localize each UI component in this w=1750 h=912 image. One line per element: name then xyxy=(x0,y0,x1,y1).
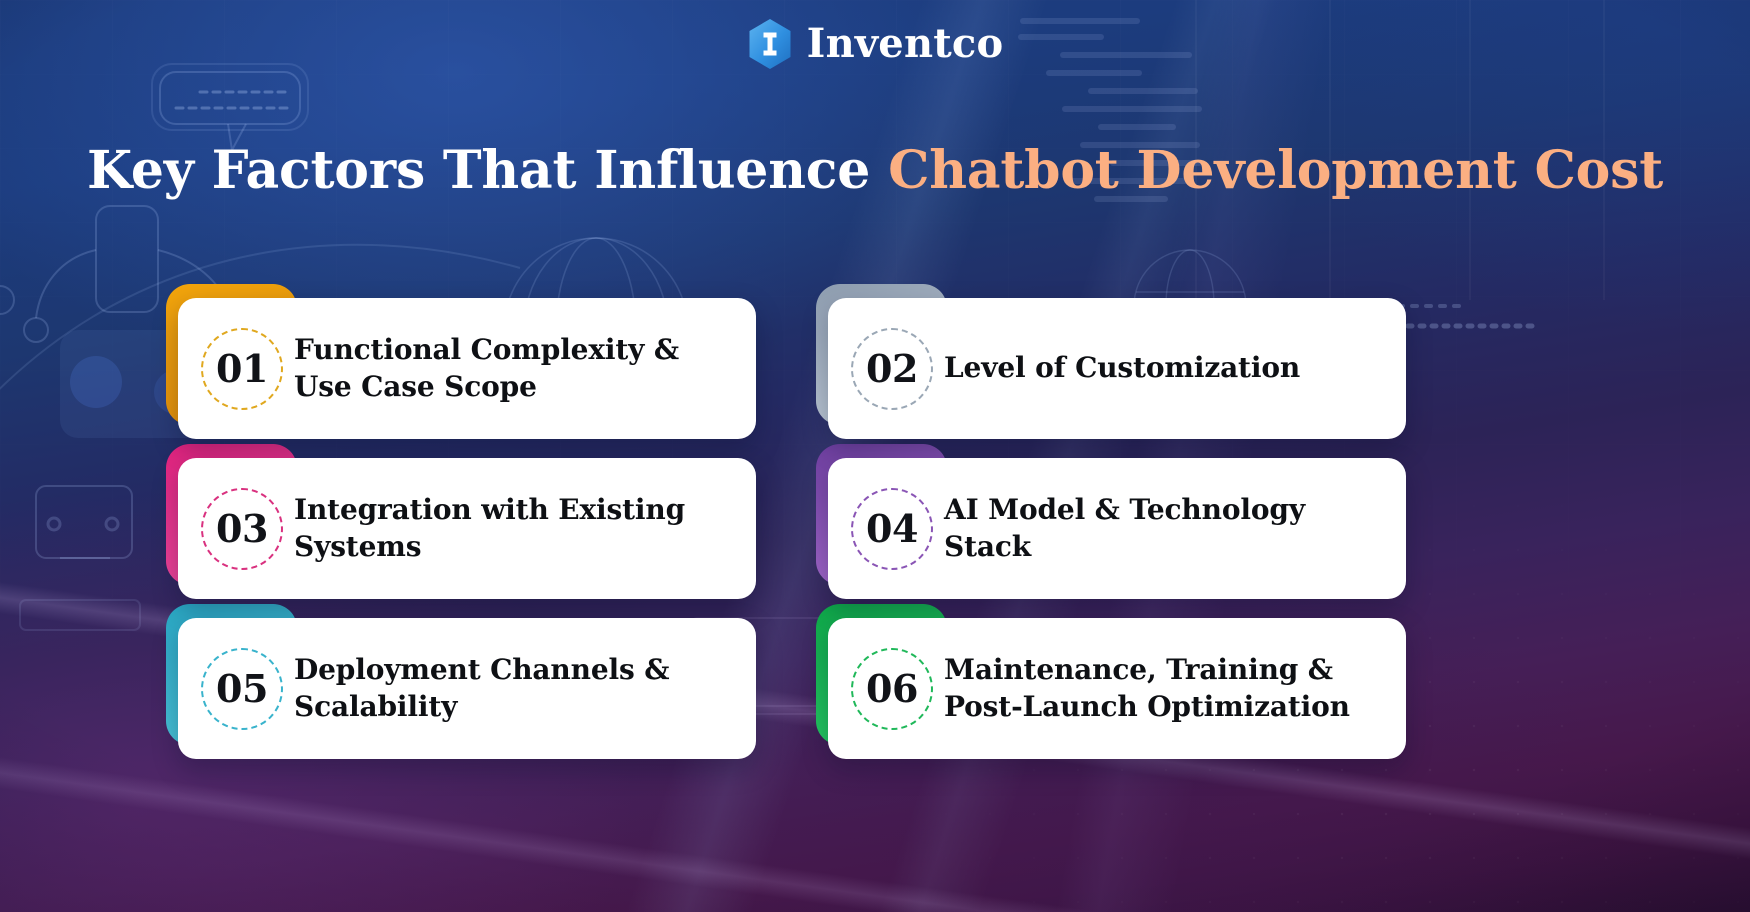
card-surface-04: 04 AI Model & Technology Stack xyxy=(828,458,1406,599)
factor-card-04[interactable]: 04 AI Model & Technology Stack xyxy=(816,444,1406,585)
card-number-05: 05 xyxy=(216,670,268,708)
card-surface-01: 01 Functional Complexity & Use Case Scop… xyxy=(178,298,756,439)
card-number-badge-01: 01 xyxy=(198,325,286,413)
factor-card-01[interactable]: 01 Functional Complexity & Use Case Scop… xyxy=(166,284,756,425)
page-title-plain: Key Factors That Influence xyxy=(87,140,888,201)
card-surface-03: 03 Integration with Existing Systems xyxy=(178,458,756,599)
brand-logo: Inventco xyxy=(0,18,1750,70)
hexagon-i-logo-icon xyxy=(747,18,793,70)
card-title-05: Deployment Channels & Scalability xyxy=(294,652,756,725)
card-surface-05: 05 Deployment Channels & Scalability xyxy=(178,618,756,759)
card-number-badge-06: 06 xyxy=(848,645,936,733)
card-surface-02: 02 Level of Customization xyxy=(828,298,1406,439)
card-number-badge-05: 05 xyxy=(198,645,286,733)
card-title-02: Level of Customization xyxy=(944,350,1320,386)
page-title-accent: Chatbot Development Cost xyxy=(888,140,1663,201)
card-title-03: Integration with Existing Systems xyxy=(294,492,756,565)
card-title-06: Maintenance, Training & Post-Launch Opti… xyxy=(944,652,1406,725)
card-number-badge-02: 02 xyxy=(848,325,936,413)
card-number-badge-04: 04 xyxy=(848,485,936,573)
card-surface-06: 06 Maintenance, Training & Post-Launch O… xyxy=(828,618,1406,759)
card-number-01: 01 xyxy=(216,350,268,388)
card-number-03: 03 xyxy=(216,510,268,548)
card-number-06: 06 xyxy=(866,670,918,708)
brand-name: Inventco xyxy=(807,24,1004,64)
factor-card-03[interactable]: 03 Integration with Existing Systems xyxy=(166,444,756,585)
factor-card-05[interactable]: 05 Deployment Channels & Scalability xyxy=(166,604,756,745)
factor-card-06[interactable]: 06 Maintenance, Training & Post-Launch O… xyxy=(816,604,1406,745)
card-number-02: 02 xyxy=(866,350,918,388)
card-title-04: AI Model & Technology Stack xyxy=(944,492,1406,565)
card-number-04: 04 xyxy=(866,510,918,548)
card-title-01: Functional Complexity & Use Case Scope xyxy=(294,332,756,405)
card-number-badge-03: 03 xyxy=(198,485,286,573)
infographic-poster: Inventco Key Factors That Influence Chat… xyxy=(0,0,1750,912)
factor-card-grid: 01 Functional Complexity & Use Case Scop… xyxy=(166,284,1406,745)
factor-card-02[interactable]: 02 Level of Customization xyxy=(816,284,1406,425)
page-title: Key Factors That Influence Chatbot Devel… xyxy=(0,143,1750,199)
